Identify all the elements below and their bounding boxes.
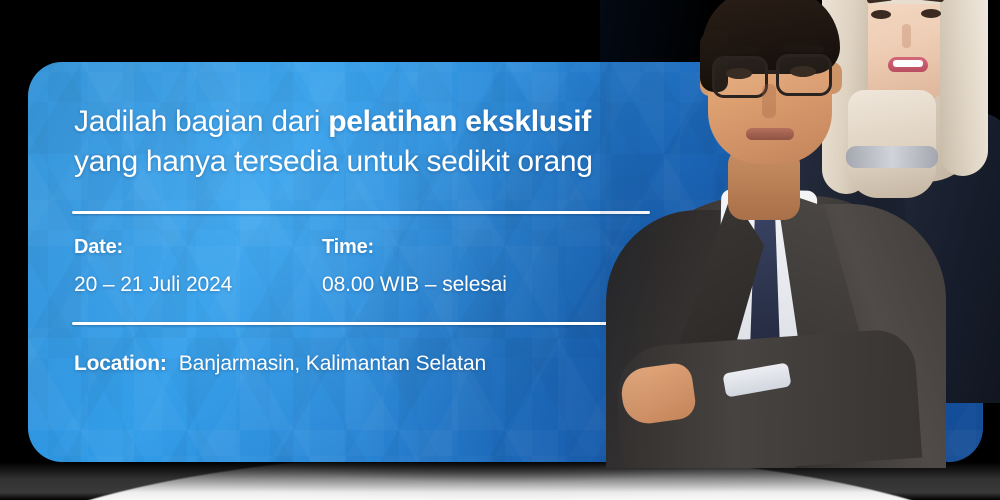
headline-bold-text: pelatihan eksklusif: [328, 105, 591, 138]
man-mouth: [746, 128, 794, 140]
woman-hijab-right-fold: [940, 0, 988, 176]
divider-top: [72, 211, 650, 214]
headline-normal-text: Jadilah bagian dari: [74, 105, 328, 138]
woman-nose: [902, 24, 911, 48]
photo-layers: [600, 0, 1000, 468]
woman-eye-right: [921, 9, 941, 18]
woman-teeth: [893, 60, 923, 67]
time-label: Time:: [322, 234, 507, 260]
location-label: Location:: [74, 351, 167, 377]
date-value: 20 – 21 Juli 2024: [74, 271, 232, 299]
woman-collar-trim: [846, 146, 938, 168]
date-label: Date:: [74, 234, 232, 260]
location-row: Location: Banjarmasin, Kalimantan Selata…: [74, 350, 486, 378]
woman-hijab-drape: [848, 90, 936, 198]
date-column: Date: 20 – 21 Juli 2024: [74, 234, 232, 299]
two-professionals-photo: [600, 0, 1000, 468]
divider-bottom: [72, 322, 650, 325]
time-column: Time: 08.00 WIB – selesai: [322, 234, 507, 299]
eyeglasses-lens-left: [712, 56, 768, 98]
location-value: Banjarmasin, Kalimantan Selatan: [179, 350, 486, 378]
promo-banner: Jadilah bagian dari pelatihan eksklusif …: [0, 0, 1000, 500]
woman-eye-left: [871, 10, 891, 19]
time-value: 08.00 WIB – selesai: [322, 271, 507, 299]
man-nose: [762, 84, 776, 118]
eyeglasses-lens-right: [776, 54, 832, 96]
eyeglasses-bridge: [766, 70, 780, 74]
